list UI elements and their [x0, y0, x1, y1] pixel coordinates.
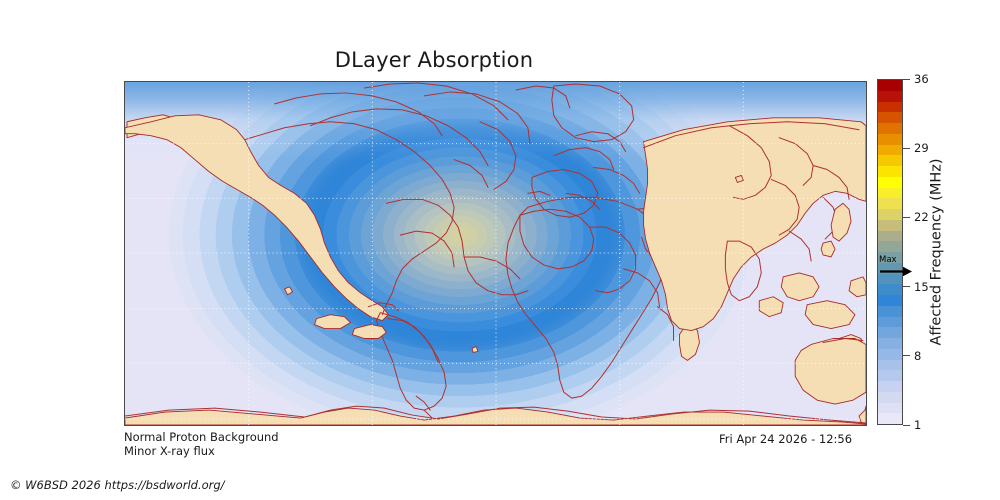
- page-title: DLayer Absorption: [0, 48, 868, 72]
- tick-mark: [903, 286, 910, 287]
- colorbar-segment: [878, 112, 902, 123]
- tick-mark: [903, 355, 910, 356]
- colorbar-segment: [878, 252, 902, 263]
- colorbar-segment: [878, 80, 902, 91]
- xray-status-label: Minor X-ray flux: [124, 444, 215, 458]
- colorbar-gradient: [877, 79, 903, 425]
- tick-mark: [903, 79, 910, 80]
- colorbar-segment: [878, 134, 902, 145]
- dlayer-absorption-figure: DLayer Absorption: [0, 0, 1000, 500]
- colorbar-segment: [878, 166, 902, 177]
- colorbar-segment: [878, 241, 902, 252]
- colorbar-segment: [878, 209, 902, 220]
- colorbar-segment: [878, 295, 902, 306]
- colorbar-segment: [878, 145, 902, 156]
- tick-label: 8: [914, 349, 921, 363]
- colorbar-segment: [878, 403, 902, 414]
- colorbar[interactable]: [877, 79, 903, 425]
- colorbar-segment: [878, 102, 902, 113]
- tick-label: 1: [914, 418, 921, 432]
- colorbar-segment: [878, 274, 902, 285]
- colorbar-segment: [878, 188, 902, 199]
- colorbar-segment: [878, 370, 902, 381]
- colorbar-segment: [878, 198, 902, 209]
- colorbar-segment: [878, 317, 902, 328]
- world-map-panel[interactable]: [124, 81, 867, 426]
- colorbar-segment: [878, 338, 902, 349]
- tick-mark: [903, 148, 910, 149]
- colorbar-segment: [878, 381, 902, 392]
- colorbar-segment: [878, 327, 902, 338]
- copyright-credit: © W6BSD 2026 https://bsdworld.org/: [10, 478, 225, 492]
- timestamp-label: Fri Apr 24 2026 - 12:56: [719, 432, 852, 446]
- colorbar-segment: [878, 284, 902, 295]
- colorbar-segment: [878, 349, 902, 360]
- colorbar-segment: [878, 220, 902, 231]
- colorbar-tick: 1: [903, 418, 921, 432]
- coastlines-layer: [125, 82, 866, 425]
- tick-mark: [903, 217, 910, 218]
- colorbar-axis-title: Affected Frequency (MHz): [925, 79, 949, 425]
- proton-status-label: Normal Proton Background: [124, 430, 279, 444]
- colorbar-segment: [878, 392, 902, 403]
- colorbar-segment: [878, 263, 902, 274]
- colorbar-segment: [878, 123, 902, 134]
- colorbar-tick: 8: [903, 349, 921, 363]
- colorbar-segment: [878, 360, 902, 371]
- colorbar-segment: [878, 91, 902, 102]
- tick-mark: [903, 425, 910, 426]
- colorbar-segment: [878, 155, 902, 166]
- colorbar-segment: [878, 177, 902, 188]
- colorbar-segment: [878, 306, 902, 317]
- colorbar-segment: [878, 231, 902, 242]
- colorbar-segment: [878, 413, 902, 424]
